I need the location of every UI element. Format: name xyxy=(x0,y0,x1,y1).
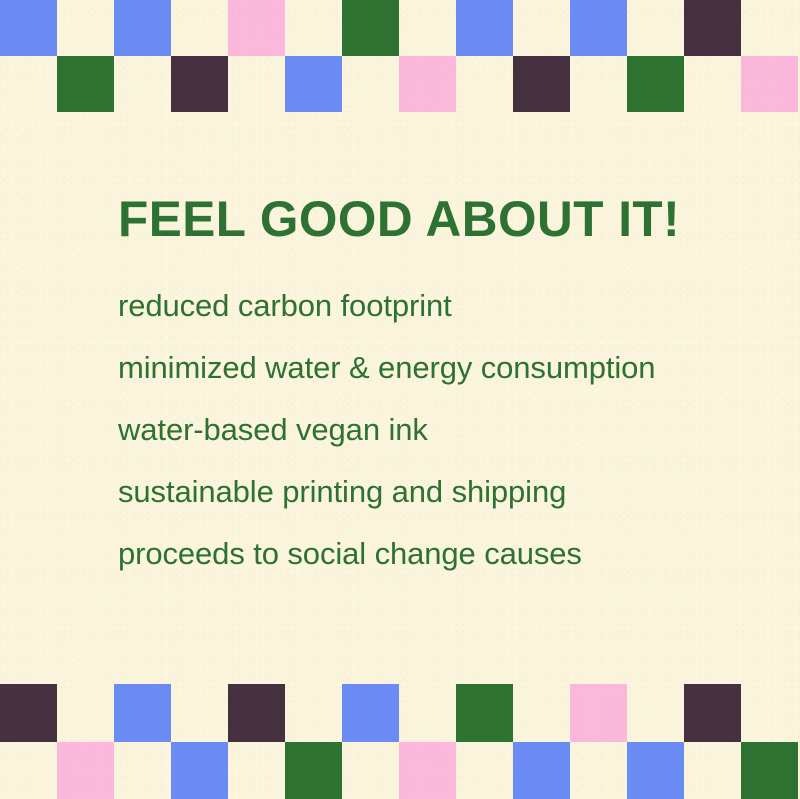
checker-cell-blue xyxy=(285,56,342,112)
checker-cell-purple xyxy=(228,684,285,742)
checker-cell-green xyxy=(285,742,342,799)
checker-cell-blue xyxy=(114,684,171,742)
checker-cell-blue xyxy=(513,742,570,799)
checker-cell-blue xyxy=(627,742,684,799)
checker-cell-empty xyxy=(456,56,513,112)
checker-cell-empty xyxy=(0,742,57,799)
checker-cell-empty xyxy=(627,684,684,742)
checker-cell-empty xyxy=(285,684,342,742)
checker-cell-empty xyxy=(741,684,798,742)
benefit-item: minimized water & energy consumption xyxy=(118,352,758,414)
checker-cell-empty xyxy=(285,0,342,56)
benefit-item: proceeds to social change causes xyxy=(118,538,758,600)
checker-cell-blue xyxy=(0,0,57,56)
decorative-checkerboard-top xyxy=(0,0,800,112)
checker-cell-green xyxy=(741,742,798,799)
checker-cell-empty xyxy=(0,56,57,112)
poster-canvas: FEEL GOOD ABOUT IT! reduced carbon footp… xyxy=(0,0,800,799)
page-title: FEEL GOOD ABOUT IT! xyxy=(118,194,680,244)
checker-cell-empty xyxy=(741,0,798,56)
checker-cell-empty xyxy=(399,684,456,742)
checker-cell-pink xyxy=(570,684,627,742)
checker-cell-empty xyxy=(57,684,114,742)
checker-cell-empty xyxy=(513,684,570,742)
checker-cell-empty xyxy=(57,0,114,56)
checker-cell-green xyxy=(57,56,114,112)
checker-cell-pink xyxy=(399,56,456,112)
poster-content: FEEL GOOD ABOUT IT! reduced carbon footp… xyxy=(0,112,800,684)
checker-cell-empty xyxy=(627,0,684,56)
checker-cell-blue xyxy=(114,0,171,56)
checker-cell-pink xyxy=(57,742,114,799)
checker-cell-empty xyxy=(114,742,171,799)
checker-cell-blue xyxy=(171,742,228,799)
benefits-list: reduced carbon footprintminimized water … xyxy=(118,290,758,600)
checker-cell-purple xyxy=(513,56,570,112)
checker-cell-empty xyxy=(171,0,228,56)
checker-cell-blue xyxy=(570,0,627,56)
checker-cell-empty xyxy=(513,0,570,56)
checker-cell-purple xyxy=(171,56,228,112)
checker-cell-empty xyxy=(570,742,627,799)
benefit-item: sustainable printing and shipping xyxy=(118,476,758,538)
checkerboard-row xyxy=(0,684,800,742)
checker-cell-blue xyxy=(456,0,513,56)
benefit-item: water-based vegan ink xyxy=(118,414,758,476)
checkerboard-row xyxy=(0,56,800,112)
checker-cell-empty xyxy=(684,56,741,112)
checker-cell-purple xyxy=(684,0,741,56)
checker-cell-blue xyxy=(342,684,399,742)
checker-cell-pink xyxy=(228,0,285,56)
checker-cell-empty xyxy=(570,56,627,112)
checker-cell-purple xyxy=(684,684,741,742)
checker-cell-purple xyxy=(0,684,57,742)
checker-cell-green xyxy=(342,0,399,56)
checker-cell-empty xyxy=(228,742,285,799)
checker-cell-empty xyxy=(456,742,513,799)
benefit-item: reduced carbon footprint xyxy=(118,290,758,352)
decorative-checkerboard-bottom xyxy=(0,684,800,799)
checkerboard-row xyxy=(0,742,800,799)
checker-cell-empty xyxy=(684,742,741,799)
checkerboard-row xyxy=(0,0,800,56)
checker-cell-empty xyxy=(342,56,399,112)
checker-cell-pink xyxy=(741,56,798,112)
checker-cell-empty xyxy=(342,742,399,799)
checker-cell-empty xyxy=(114,56,171,112)
checker-cell-empty xyxy=(171,684,228,742)
checker-cell-green xyxy=(627,56,684,112)
checker-cell-empty xyxy=(228,56,285,112)
checker-cell-green xyxy=(456,684,513,742)
checker-cell-empty xyxy=(399,0,456,56)
checker-cell-pink xyxy=(399,742,456,799)
